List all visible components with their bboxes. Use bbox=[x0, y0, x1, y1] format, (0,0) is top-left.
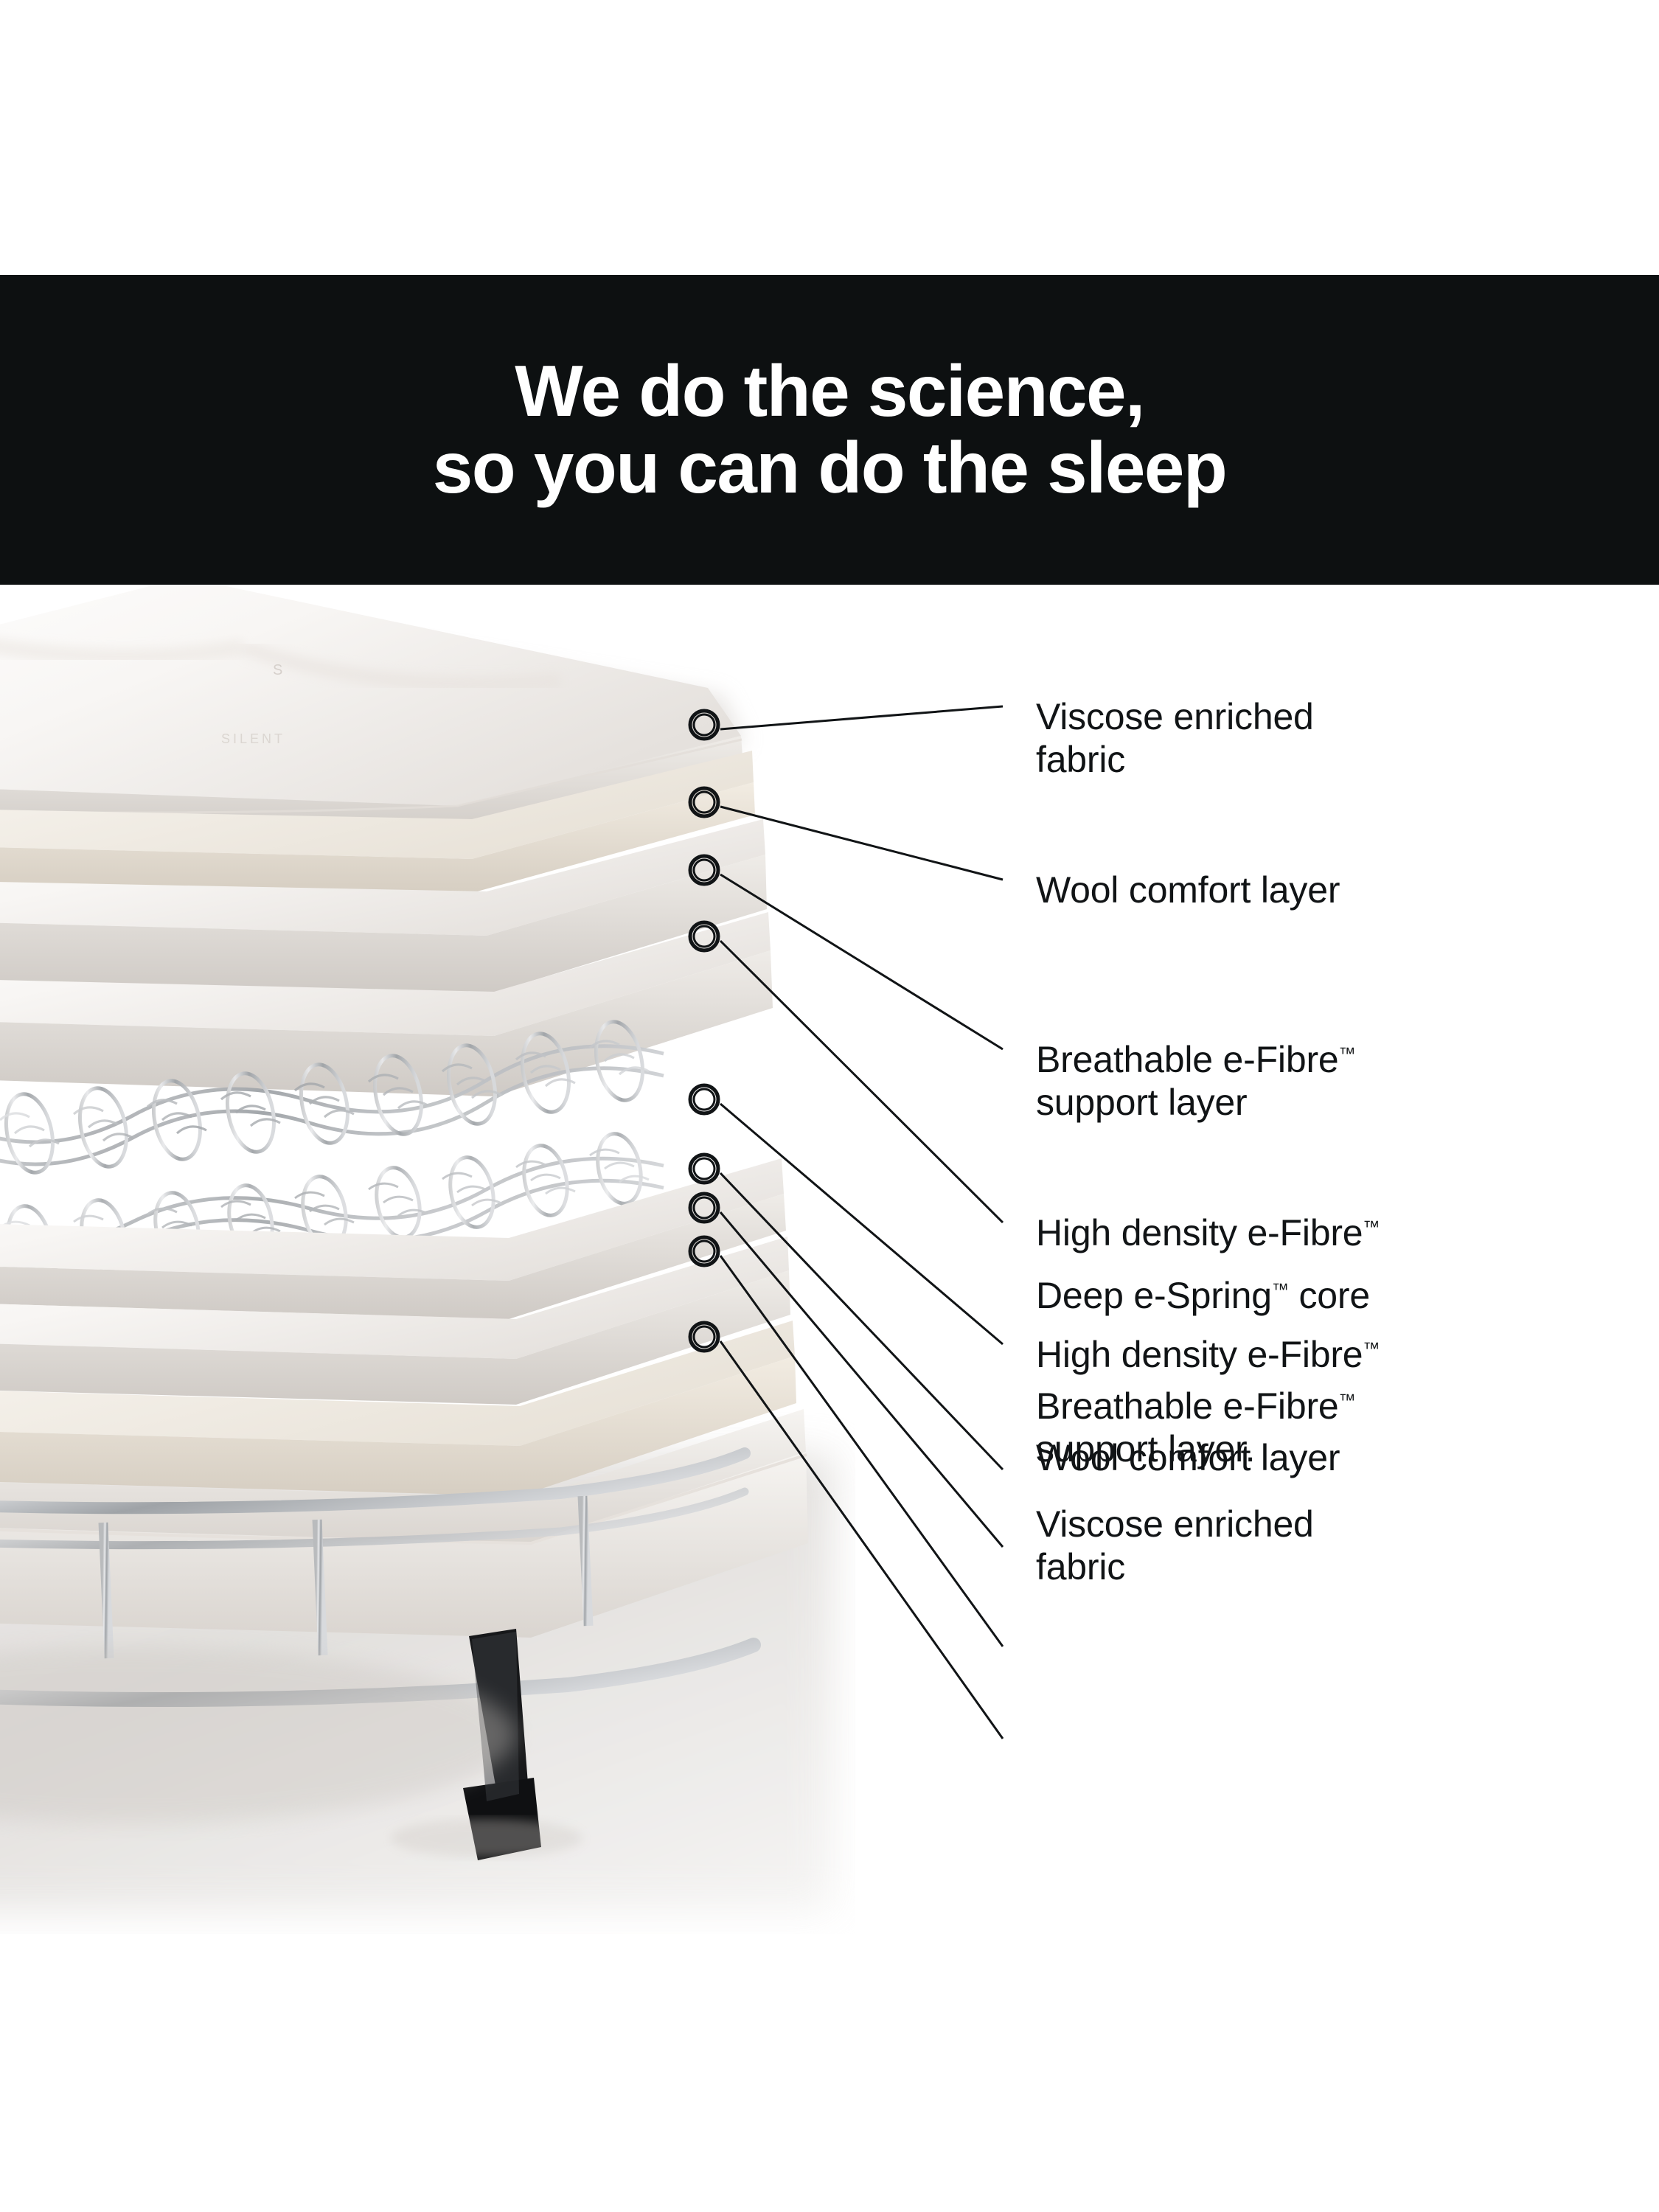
headline-banner: We do the science, so you can do the sle… bbox=[0, 275, 1659, 585]
callout-label-line-1: Viscose enriched bbox=[1036, 1503, 1314, 1545]
callout-label-list: Viscose enrichedfabricWool comfort layer… bbox=[1036, 585, 1659, 1934]
callout-label-line-2: fabric bbox=[1036, 1545, 1314, 1588]
callout-label-wool-bot: Wool comfort layer bbox=[1036, 1436, 1340, 1479]
callout-label-highdensity-bot: High density e-Fibre™ bbox=[1036, 1333, 1380, 1376]
callout-label-breathable-top: Breathable e-Fibre™support layer bbox=[1036, 1038, 1356, 1124]
callout-label-line-2: fabric bbox=[1036, 738, 1314, 781]
mattress-cutaway-photo: S SILENT bbox=[0, 585, 855, 1934]
callout-label-line-1: High density e-Fibre™ bbox=[1036, 1333, 1380, 1376]
svg-text:SILENT: SILENT bbox=[221, 731, 285, 746]
headline-line-1: We do the science, bbox=[515, 353, 1144, 430]
diagram-stage: S SILENT bbox=[0, 585, 1659, 1934]
trademark-symbol: ™ bbox=[1339, 1390, 1356, 1409]
trademark-symbol: ™ bbox=[1363, 1217, 1380, 1236]
callout-label-line-2: support layer bbox=[1036, 1081, 1356, 1124]
headline-line-2: so you can do the sleep bbox=[433, 430, 1226, 507]
callout-label-spring-core: Deep e-Spring™ core bbox=[1036, 1274, 1370, 1317]
callout-label-line-1: Wool comfort layer bbox=[1036, 1436, 1340, 1479]
callout-label-line-1: Breathable e-Fibre™ bbox=[1036, 1038, 1356, 1081]
callout-label-wool-top: Wool comfort layer bbox=[1036, 869, 1340, 911]
callout-label-line-1: Breathable e-Fibre™ bbox=[1036, 1385, 1356, 1427]
callout-label-line-1: Deep e-Spring™ core bbox=[1036, 1274, 1370, 1317]
trademark-symbol: ™ bbox=[1363, 1338, 1380, 1357]
top-white-margin bbox=[0, 0, 1659, 275]
trademark-symbol: ™ bbox=[1339, 1043, 1356, 1062]
callout-label-line-1: High density e-Fibre™ bbox=[1036, 1211, 1380, 1254]
trademark-symbol: ™ bbox=[1272, 1279, 1289, 1298]
svg-text:S: S bbox=[273, 662, 282, 678]
callout-label-viscose-bot: Viscose enrichedfabric bbox=[1036, 1503, 1314, 1588]
callout-label-line-1: Viscose enriched bbox=[1036, 695, 1314, 738]
callout-label-line-1: Wool comfort layer bbox=[1036, 869, 1340, 911]
callout-label-highdensity-top: High density e-Fibre™ bbox=[1036, 1211, 1380, 1254]
bottom-white-margin bbox=[0, 1934, 1659, 2212]
callout-label-viscose-top: Viscose enrichedfabric bbox=[1036, 695, 1314, 781]
mattress-layer-illustration: S SILENT bbox=[0, 585, 855, 1934]
